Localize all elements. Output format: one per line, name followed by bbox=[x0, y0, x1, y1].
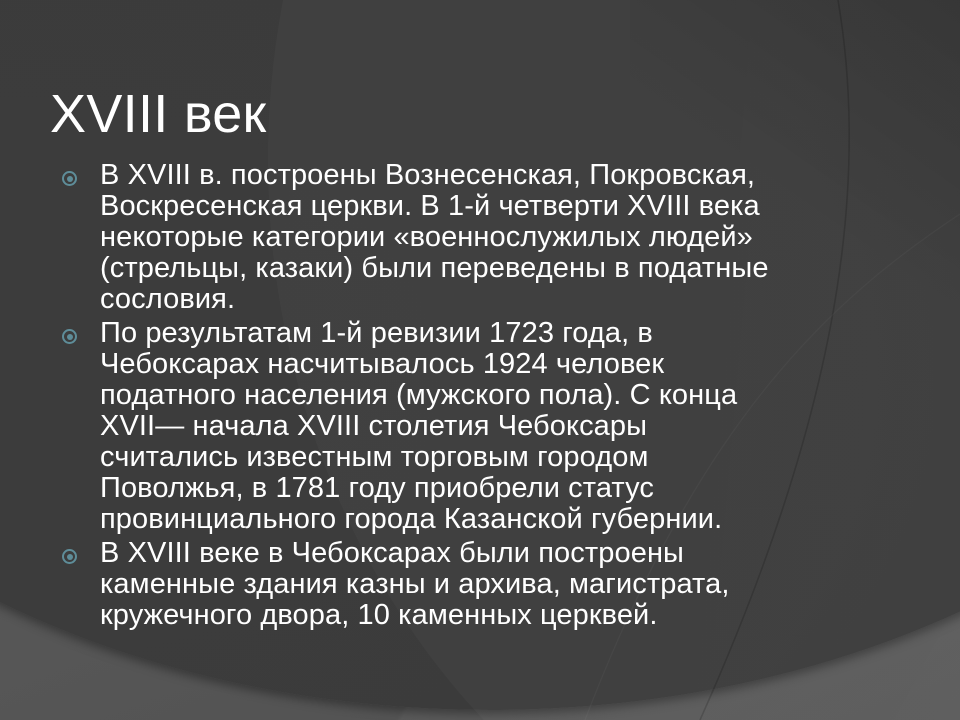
bullet-item-text: По результатам 1-й ревизии 1723 года, в … bbox=[100, 318, 862, 535]
bullet-list-item: В XVIII веке в Чебоксарах были построены… bbox=[62, 538, 862, 631]
target-dot-bullet-icon bbox=[62, 549, 77, 564]
bullet-item-text: В XVIII веке в Чебоксарах были построены… bbox=[100, 538, 862, 631]
slide-title: XVIII век bbox=[50, 84, 890, 144]
bullet-marker bbox=[62, 538, 100, 564]
bullet-item-text: В XVIII в. построены Вознесенская, Покро… bbox=[100, 160, 862, 315]
bullet-marker bbox=[62, 160, 100, 186]
bullet-list-item: В XVIII в. построены Вознесенская, Покро… bbox=[62, 160, 862, 315]
presentation-slide: XVIII век В XVIII в. построены Вознесенс… bbox=[0, 0, 960, 720]
slide-body-bullet-list: В XVIII в. построены Вознесенская, Покро… bbox=[62, 160, 862, 634]
bullet-marker bbox=[62, 318, 100, 344]
target-dot-bullet-icon bbox=[62, 329, 77, 344]
bullet-list-item: По результатам 1-й ревизии 1723 года, в … bbox=[62, 318, 862, 535]
target-dot-bullet-icon bbox=[62, 171, 77, 186]
slide-content: XVIII век В XVIII в. построены Вознесенс… bbox=[0, 0, 960, 720]
